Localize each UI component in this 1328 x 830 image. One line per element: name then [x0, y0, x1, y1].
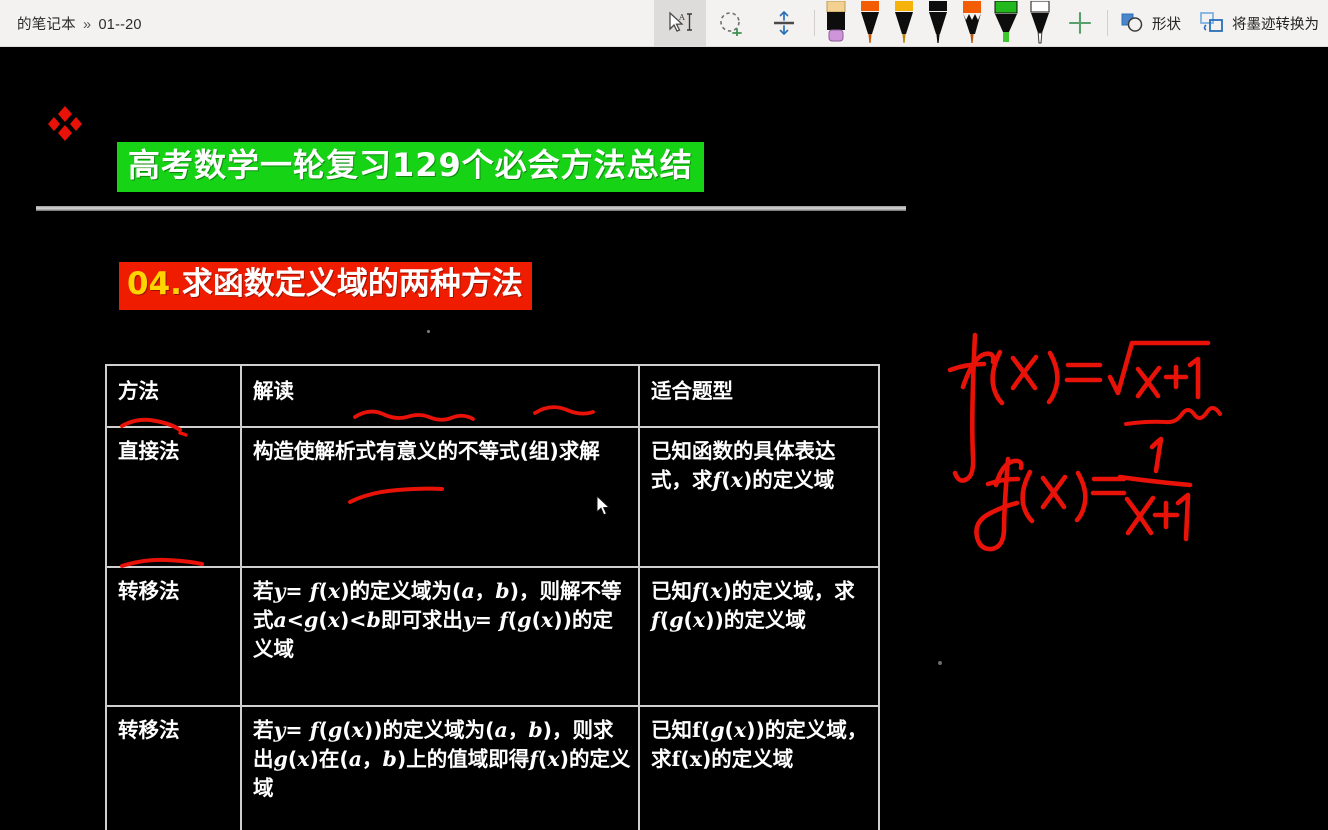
breadcrumb-separator: » — [80, 17, 94, 33]
handwriting-note-1 — [950, 335, 1220, 481]
add-pen-button[interactable] — [1057, 0, 1103, 47]
pen-yellow-button[interactable] — [887, 0, 921, 47]
section-heading: 04.求函数定义域的两种方法 — [119, 262, 532, 310]
convert-ink-icon — [1199, 11, 1225, 35]
convert-ink-button[interactable]: 将墨迹转换为 — [1190, 0, 1328, 47]
methods-table[interactable]: 方法 解读 适合题型 直接法 构造使解析式有意义的不等式(组)求解 已知函数的具… — [105, 364, 880, 830]
diamond-cluster-icon — [46, 104, 84, 142]
select-text-tool-button[interactable]: A — [654, 0, 706, 47]
convert-ink-label: 将墨迹转换为 — [1232, 13, 1319, 34]
breadcrumb-notebook[interactable]: 的笔记本 — [17, 17, 76, 33]
highlighter-icon — [992, 1, 1020, 45]
svg-text:A: A — [678, 13, 685, 22]
section-heading-text: 求函数定义域的两种方法 — [182, 266, 523, 302]
shape-tool-button[interactable]: 形状 — [1112, 0, 1190, 47]
lasso-select-tool-button[interactable] — [706, 0, 758, 47]
note-canvas[interactable]: 高考数学一轮复习129个必会方法总结 04.求函数定义域的两种方法 方法 解读 … — [0, 47, 1328, 830]
ink-dot-2 — [938, 661, 942, 665]
cell-suitable-1: 已知函数的具体表达式，求f(x)的定义域 — [639, 427, 879, 567]
shape-icon — [1121, 12, 1145, 34]
cell-explanation-2: 若y= f(x)的定义域为(a，b)，则解不等式a<g(x)<b即可求出y= f… — [241, 567, 639, 706]
breadcrumb-page[interactable]: 01--20 — [99, 17, 142, 33]
pen-white-button[interactable] — [1023, 0, 1057, 47]
pen-orange-selected-button[interactable] — [955, 0, 989, 47]
section-number: 04. — [127, 266, 182, 302]
pen-icon — [925, 1, 951, 45]
table-row[interactable]: 直接法 构造使解析式有意义的不等式(组)求解 已知函数的具体表达式，求f(x)的… — [106, 427, 879, 567]
mouse-cursor — [596, 495, 612, 518]
pen-icon — [1027, 1, 1053, 45]
handwriting-note-2 — [976, 439, 1190, 549]
lasso-select-icon — [718, 10, 746, 36]
cell-method-1: 直接法 — [106, 427, 241, 567]
pen-orange-red-button[interactable] — [853, 0, 887, 47]
table-row[interactable]: 转移法 若y= f(g(x))的定义域为(a，b)，则求出g(x)在(a，b)上… — [106, 706, 879, 830]
table-header-suitable: 适合题型 — [639, 365, 879, 427]
table-header-explain: 解读 — [241, 365, 639, 427]
pen-icon — [891, 1, 917, 45]
toolbar-divider-1 — [814, 10, 815, 36]
plus-icon — [1066, 9, 1094, 37]
select-text-icon: A — [665, 10, 695, 36]
table-header-method: 方法 — [106, 365, 241, 427]
breadcrumb[interactable]: 的笔记本 » 01--20 — [0, 13, 142, 34]
table-row[interactable]: 转移法 若y= f(x)的定义域为(a，b)，则解不等式a<g(x)<b即可求出… — [106, 567, 879, 706]
insert-space-icon — [771, 10, 797, 36]
cell-suitable-3: 已知f(g(x))的定义域，求f(x)的定义域 — [639, 706, 879, 830]
top-toolbar: 的笔记本 » 01--20 A — [0, 0, 1328, 47]
cell-method-2: 转移法 — [106, 567, 241, 706]
shape-tool-label: 形状 — [1152, 13, 1181, 34]
toolbar-divider-2 — [1107, 10, 1108, 36]
pen-icon — [857, 1, 883, 45]
cell-explanation-3: 若y= f(g(x))的定义域为(a，b)，则求出g(x)在(a，b)上的值域即… — [241, 706, 639, 830]
table-header-row: 方法 解读 适合题型 — [106, 365, 879, 427]
page-title: 高考数学一轮复习129个必会方法总结 — [117, 142, 704, 192]
pen-black-button[interactable] — [921, 0, 955, 47]
insert-space-tool-button[interactable] — [758, 0, 810, 47]
cell-explanation-1: 构造使解析式有意义的不等式(组)求解 — [241, 427, 639, 567]
cell-method-3: 转移法 — [106, 706, 241, 830]
eraser-button[interactable] — [819, 0, 853, 47]
eraser-icon — [823, 1, 849, 45]
title-divider — [36, 206, 906, 211]
ink-dot-1 — [427, 330, 430, 333]
pen-icon — [959, 1, 985, 45]
onenote-page-window: 的笔记本 » 01--20 A — [0, 0, 1328, 830]
cell-suitable-2: 已知f(x)的定义域，求f(g(x))的定义域 — [639, 567, 879, 706]
highlighter-green-button[interactable] — [989, 0, 1023, 47]
